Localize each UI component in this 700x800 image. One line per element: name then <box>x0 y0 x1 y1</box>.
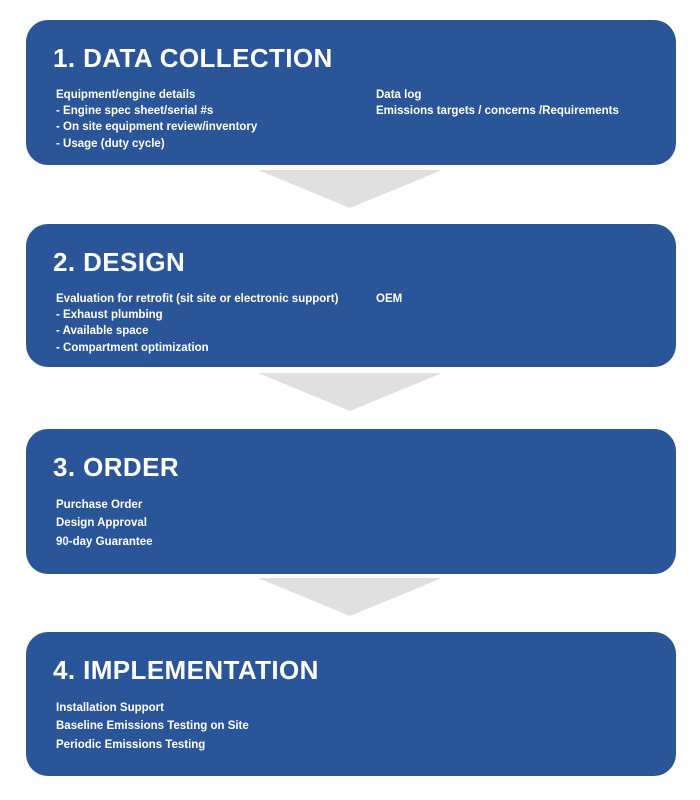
step-4-left-column: Installation Support Baseline Emissions … <box>56 699 376 755</box>
step-3-title: 3. ORDER <box>26 445 676 482</box>
step-4-left-line-1: Installation Support <box>56 699 376 718</box>
step-1-body: Equipment/engine details - Engine spec s… <box>26 73 676 152</box>
down-arrow-icon-2 <box>258 373 442 411</box>
process-flow-diagram: 1. DATA COLLECTION Equipment/engine deta… <box>0 0 700 800</box>
step-3-left-column: Purchase Order Design Approval 90-day Gu… <box>56 496 376 552</box>
step-2-right-line-1: OEM <box>376 291 676 307</box>
step-1-left-line-4: - Usage (duty cycle) <box>56 136 376 152</box>
down-arrow-icon-1 <box>258 170 442 208</box>
step-4-body: Installation Support Baseline Emissions … <box>26 685 676 755</box>
step-1-right-line-2: Emissions targets / concerns /Requiremen… <box>376 103 676 119</box>
step-1-left-line-3: - On site equipment review/inventory <box>56 119 376 135</box>
down-arrow-icon-3 <box>258 578 442 616</box>
step-2-left-line-1: Evaluation for retrofit (sit site or ele… <box>56 291 376 307</box>
process-step-2: 2. DESIGN Evaluation for retrofit (sit s… <box>26 224 676 367</box>
step-2-body: Evaluation for retrofit (sit site or ele… <box>26 277 676 356</box>
step-3-left-line-1: Purchase Order <box>56 496 376 515</box>
step-3-left-line-3: 90-day Guarantee <box>56 533 376 552</box>
step-2-left-column: Evaluation for retrofit (sit site or ele… <box>56 291 376 356</box>
step-2-title: 2. DESIGN <box>26 240 676 277</box>
step-1-left-line-2: - Engine spec sheet/serial #s <box>56 103 376 119</box>
step-2-right-column: OEM <box>376 291 676 307</box>
step-4-title: 4. IMPLEMENTATION <box>26 648 676 685</box>
step-1-left-column: Equipment/engine details - Engine spec s… <box>56 87 376 152</box>
process-step-3: 3. ORDER Purchase Order Design Approval … <box>26 429 676 574</box>
step-4-left-line-2: Baseline Emissions Testing on Site <box>56 717 376 736</box>
step-3-body: Purchase Order Design Approval 90-day Gu… <box>26 482 676 552</box>
process-step-1: 1. DATA COLLECTION Equipment/engine deta… <box>26 20 676 165</box>
step-2-left-line-4: - Compartment optimization <box>56 340 376 356</box>
step-1-title: 1. DATA COLLECTION <box>26 36 676 73</box>
process-step-4: 4. IMPLEMENTATION Installation Support B… <box>26 632 676 776</box>
step-2-left-line-3: - Available space <box>56 323 376 339</box>
step-1-right-line-1: Data log <box>376 87 676 103</box>
step-2-left-line-2: - Exhaust plumbing <box>56 307 376 323</box>
step-4-left-line-3: Periodic Emissions Testing <box>56 736 376 755</box>
step-1-left-line-1: Equipment/engine details <box>56 87 376 103</box>
step-3-left-line-2: Design Approval <box>56 514 376 533</box>
step-1-right-column: Data log Emissions targets / concerns /R… <box>376 87 676 120</box>
